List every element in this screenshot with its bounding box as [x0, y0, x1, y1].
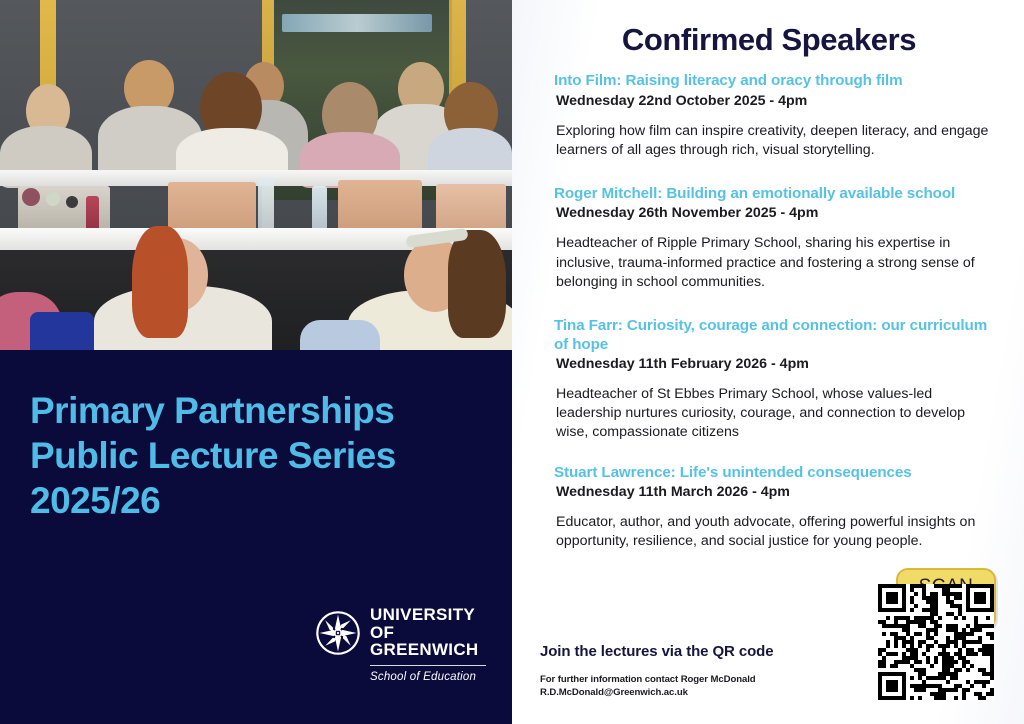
photo-table-back — [0, 170, 512, 186]
university-logo: UNIVERSITY OF GREENWICH School of Educat… — [316, 606, 486, 683]
photo-sticker — [66, 196, 78, 208]
photo-laptop — [168, 182, 256, 230]
speaker-title: Into Film: Raising literacy and oracy th… — [540, 72, 998, 91]
logo-greenwich-line: GREENWICH — [370, 641, 486, 659]
contact-name-line: For further information contact Roger Mc… — [540, 674, 870, 687]
photo-chair — [30, 312, 94, 350]
speaker-entry: Stuart Lawrence: Life's unintended conse… — [540, 464, 998, 552]
speaker-description: Exploring how film can inspire creativit… — [540, 122, 992, 160]
speaker-title: Tina Farr: Curiosity, courage and connec… — [540, 317, 998, 354]
contact-email-line[interactable]: R.D.McDonald@Greenwich.ac.uk — [540, 687, 870, 700]
qr-block: SCAN ME! — [872, 568, 996, 700]
poster-title-line-1: Primary Partnerships — [30, 388, 480, 433]
students-photo — [0, 0, 512, 350]
logo-university-line: UNIVERSITY OF — [370, 606, 486, 641]
spacer — [540, 296, 998, 317]
right-panel: Confirmed Speakers Into Film: Raising li… — [512, 0, 1024, 724]
speaker-entry: Tina Farr: Curiosity, courage and connec… — [540, 317, 998, 443]
speaker-entry: Into Film: Raising literacy and oracy th… — [540, 72, 998, 160]
speaker-title: Stuart Lawrence: Life's unintended conse… — [540, 464, 998, 483]
speaker-date: Wednesday 26th November 2025 - 4pm — [540, 205, 998, 221]
join-lectures-title: Join the lectures via the QR code — [540, 643, 870, 660]
logo-row: UNIVERSITY OF GREENWICH — [316, 606, 486, 659]
speaker-date: Wednesday 11th February 2026 - 4pm — [540, 356, 998, 372]
speaker-date: Wednesday 11th March 2026 - 4pm — [540, 484, 998, 500]
photo-person-hair — [448, 230, 506, 338]
photo-laptop — [436, 184, 506, 230]
poster: Primary Partnerships Public Lecture Seri… — [0, 0, 1024, 724]
join-block: Join the lectures via the QR code For fu… — [540, 643, 870, 700]
poster-title-line-2: Public Lecture Series — [30, 433, 480, 478]
photo-sticker — [22, 188, 40, 206]
speaker-description: Headteacher of St Ebbes Primary School, … — [540, 385, 992, 443]
spacer — [540, 164, 998, 185]
speaker-date: Wednesday 22nd October 2025 - 4pm — [540, 93, 998, 109]
photo-scene — [0, 0, 512, 350]
logo-wordmark: UNIVERSITY OF GREENWICH — [370, 606, 486, 659]
spacer — [540, 447, 998, 464]
poster-title-line-3: 2025/26 — [30, 478, 480, 523]
photo-person-hair — [132, 226, 188, 338]
compass-rose-icon — [316, 611, 360, 655]
photo-water-bottle — [258, 178, 274, 230]
photo-sticker — [46, 192, 60, 206]
photo-water-bottle — [312, 186, 327, 232]
logo-divider — [370, 665, 486, 666]
poster-title: Primary Partnerships Public Lecture Seri… — [30, 388, 480, 523]
left-panel: Primary Partnerships Public Lecture Seri… — [0, 0, 512, 724]
confirmed-speakers-heading: Confirmed Speakers — [540, 22, 998, 58]
speaker-description: Educator, author, and youth advocate, of… — [540, 513, 992, 551]
qr-code[interactable] — [878, 584, 994, 700]
photo-person-sleeve — [300, 320, 380, 350]
speaker-description: Headteacher of Ripple Primary School, sh… — [540, 234, 992, 292]
logo-school-subtitle: School of Education — [370, 671, 476, 683]
speaker-entry: Roger Mitchell: Building an emotionally … — [540, 185, 998, 292]
speaker-title: Roger Mitchell: Building an emotionally … — [540, 185, 998, 204]
photo-laptop — [338, 180, 422, 228]
